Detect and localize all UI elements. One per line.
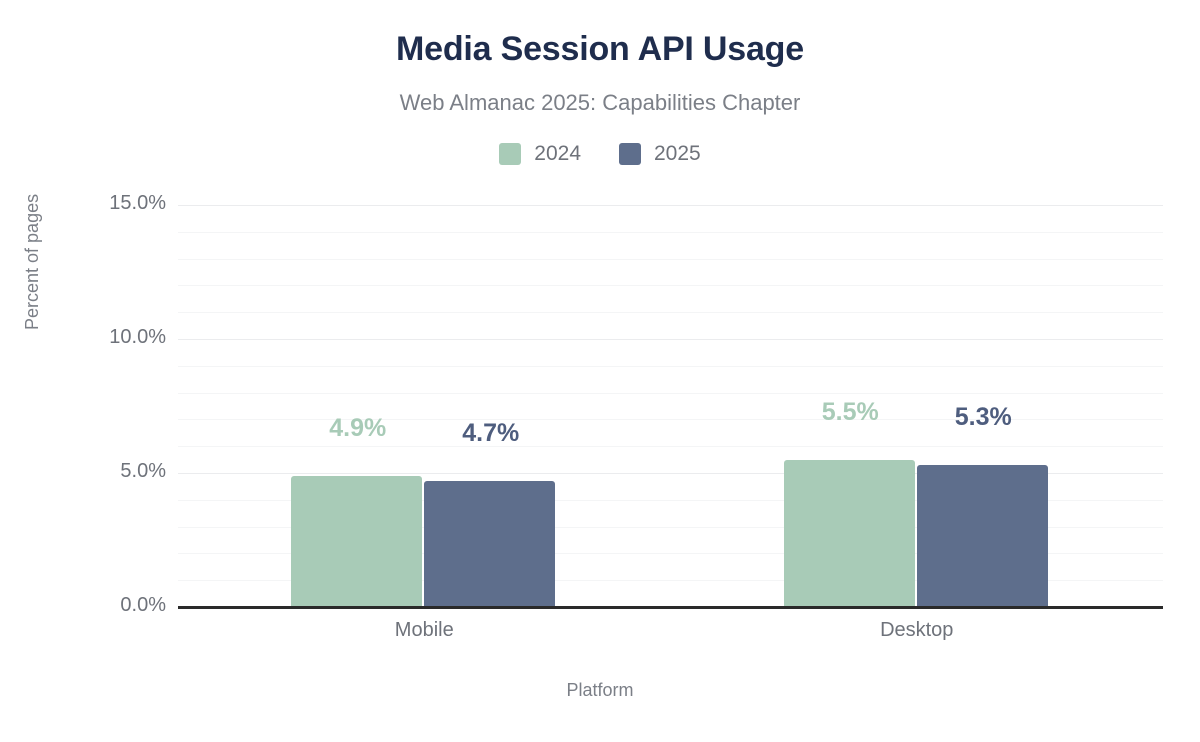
y-axis-tick-label: 0.0% [120,594,166,617]
bar-desktop-2025[interactable] [917,465,1048,607]
legend-item-2025[interactable]: 2025 [619,142,701,166]
gridline [178,205,1163,206]
chart-subtitle: Web Almanac 2025: Capabilities Chapter [0,90,1200,116]
bar-mobile-2024[interactable] [291,476,422,607]
gridline [178,446,1163,447]
legend-item-2024[interactable]: 2024 [499,142,581,166]
legend-label-2025: 2025 [654,142,701,166]
legend-label-2024: 2024 [534,142,581,166]
bar-desktop-2024[interactable] [784,460,915,607]
gridline [178,259,1163,260]
gridline [178,366,1163,367]
legend-swatch-2024 [499,143,521,165]
bar-value-label: 4.9% [291,414,424,443]
bar-value-label: 5.3% [917,403,1050,432]
x-axis-title: Platform [0,680,1200,701]
x-axis-tick-desktop: Desktop [797,619,1037,642]
gridline [178,339,1163,340]
bar-chart: Media Session API Usage Web Almanac 2025… [0,0,1200,742]
y-axis-tick-label: 15.0% [109,192,166,215]
y-axis-tick-label: 5.0% [120,460,166,483]
chart-title: Media Session API Usage [0,30,1200,69]
gridline [178,285,1163,286]
bar-mobile-2025[interactable] [424,481,555,607]
y-axis-title: Percent of pages [22,194,43,330]
chart-legend: 2024 2025 [0,142,1200,166]
gridline [178,393,1163,394]
x-axis-line [178,606,1163,609]
bar-value-label: 5.5% [784,398,917,427]
x-axis-tick-mobile: Mobile [304,619,544,642]
legend-swatch-2025 [619,143,641,165]
y-axis-tick-label: 10.0% [109,326,166,349]
bar-value-label: 4.7% [424,419,557,448]
gridline [178,232,1163,233]
gridline [178,312,1163,313]
